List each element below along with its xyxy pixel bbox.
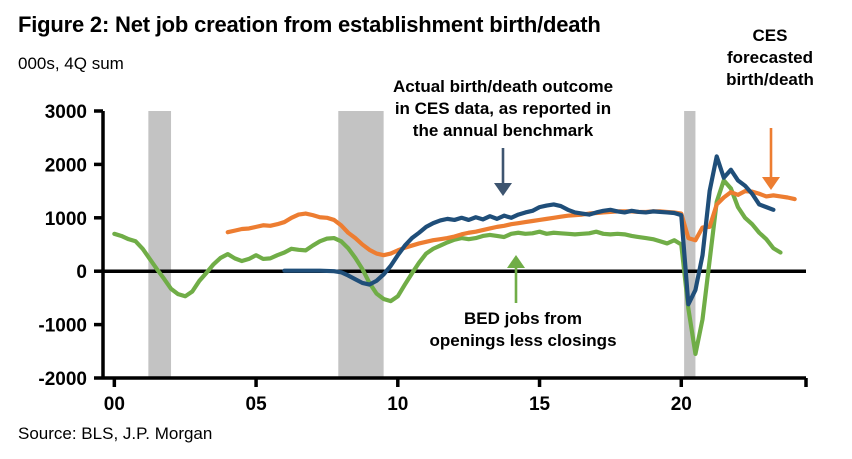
source-note: Source: BLS, J.P. Morgan xyxy=(18,424,212,444)
chart-plot-area: 3000200010000-1000-2000 0005101520 xyxy=(0,0,852,459)
x-tick-label: 20 xyxy=(671,394,692,415)
y-tick-label: 2000 xyxy=(45,155,87,176)
arrow-ces-forecast-head xyxy=(762,177,780,190)
x-tick-label: 05 xyxy=(246,394,268,415)
y-tick-label: -1000 xyxy=(38,316,87,337)
annotation-arrows-group xyxy=(494,128,780,303)
x-axis-tick-labels: 0005101520 xyxy=(104,394,692,415)
y-axis-tick-labels: 3000200010000-1000-2000 xyxy=(38,102,87,390)
series-line xyxy=(114,180,780,354)
arrow-bed-jobs-head xyxy=(507,255,525,268)
figure-container: Figure 2: Net job creation from establis… xyxy=(0,0,852,459)
x-tick-label: 00 xyxy=(104,394,125,415)
y-tick-label: 3000 xyxy=(45,102,87,123)
y-tick-label: 0 xyxy=(76,262,87,283)
recession-band xyxy=(148,111,171,378)
arrow-actual-outcome-head xyxy=(494,183,512,196)
y-tick-label: 1000 xyxy=(45,209,87,230)
x-tick-label: 10 xyxy=(387,394,408,415)
x-tick-label: 15 xyxy=(529,394,551,415)
y-tick-label: -2000 xyxy=(38,369,87,390)
